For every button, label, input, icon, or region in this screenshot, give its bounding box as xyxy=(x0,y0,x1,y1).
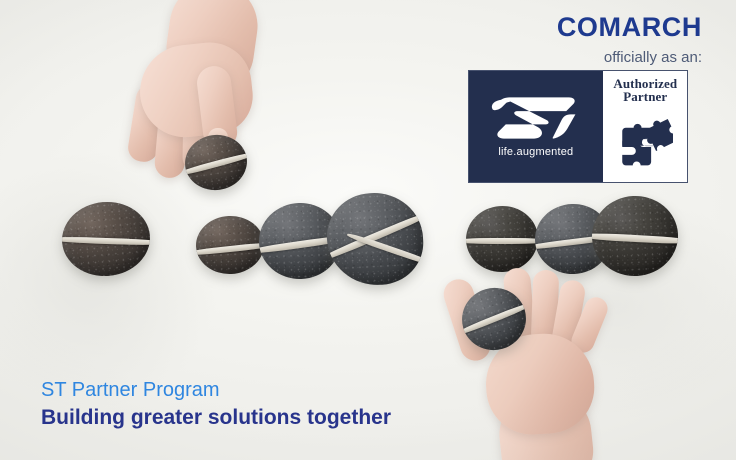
headline-block: ST Partner Program Building greater solu… xyxy=(41,377,391,432)
st-badge-logo-area: life.augmented xyxy=(469,71,603,182)
comarch-subtitle: officially as an: xyxy=(557,50,702,65)
puzzle-pieces-icon xyxy=(617,119,673,175)
st-tagline: life.augmented xyxy=(498,147,573,158)
st-authorized-partner-badge: life.augmented Authorized Partner xyxy=(468,70,688,183)
authorized-label-line-1: Authorized xyxy=(603,77,688,90)
headline-primary: ST Partner Program xyxy=(41,377,391,404)
authorized-label-line-2: Partner xyxy=(603,90,688,103)
st-partner-program-banner: COMARCH officially as an: life.augmented… xyxy=(0,0,736,460)
headline-secondary: Building greater solutions together xyxy=(41,404,391,432)
st-logo-icon xyxy=(490,96,582,140)
authorized-partner-label: Authorized Partner xyxy=(603,77,688,104)
comarch-brand-block: COMARCH officially as an: xyxy=(557,14,702,65)
comarch-wordmark: COMARCH xyxy=(557,14,702,41)
st-badge-partner-area: Authorized Partner xyxy=(603,71,687,182)
